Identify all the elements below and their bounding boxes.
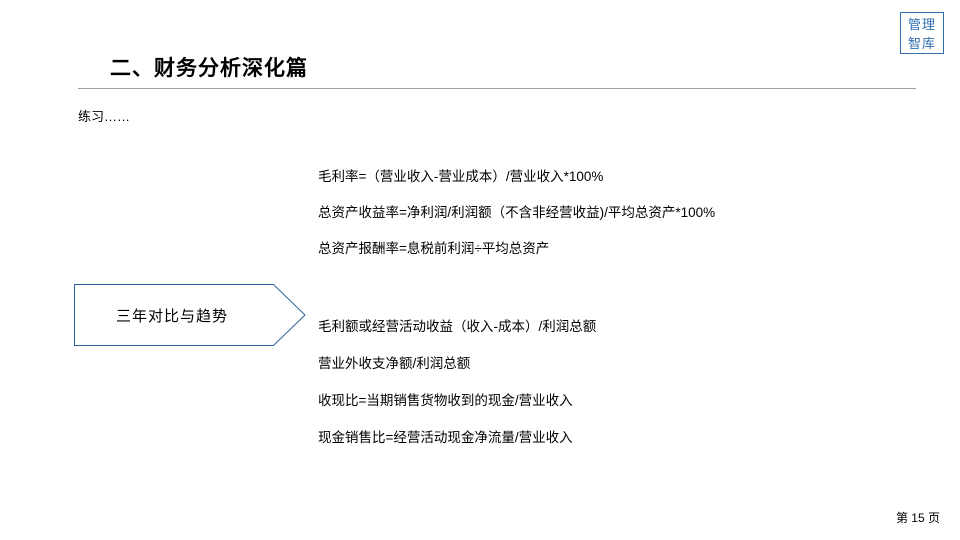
- callout-shape: 三年对比与趋势: [74, 284, 306, 346]
- formula-line: 毛利额或经营活动收益（收入-成本）/利润总额: [318, 320, 596, 335]
- formula-group-bottom: 毛利额或经营活动收益（收入-成本）/利润总额 营业外收支净额/利润总额 收现比=…: [318, 320, 596, 467]
- page-title: 二、财务分析深化篇: [110, 52, 308, 82]
- exercise-label: 练习……: [78, 106, 130, 125]
- formula-line: 总资产报酬率=息税前利润÷平均总资产: [318, 242, 715, 257]
- page-number: 第 15 页: [896, 509, 940, 526]
- formula-group-top: 毛利率=（营业收入-营业成本）/营业收入*100% 总资产收益率=净利润/利润额…: [318, 170, 715, 278]
- callout-label: 三年对比与趋势: [74, 284, 270, 346]
- title-divider: [78, 88, 916, 89]
- formula-line: 现金销售比=经营活动现金净流量/营业收入: [318, 431, 596, 446]
- formula-line: 收现比=当期销售货物收到的现金/营业收入: [318, 394, 596, 409]
- formula-line: 总资产收益率=净利润/利润额（不含非经营收益)/平均总资产*100%: [318, 206, 715, 221]
- formula-line: 营业外收支净额/利润总额: [318, 357, 596, 372]
- brand-logo-line1: 管理: [901, 15, 943, 34]
- brand-logo: 管理 智库: [900, 12, 944, 54]
- formula-line: 毛利率=（营业收入-营业成本）/营业收入*100%: [318, 170, 715, 185]
- brand-logo-line2: 智库: [901, 34, 943, 53]
